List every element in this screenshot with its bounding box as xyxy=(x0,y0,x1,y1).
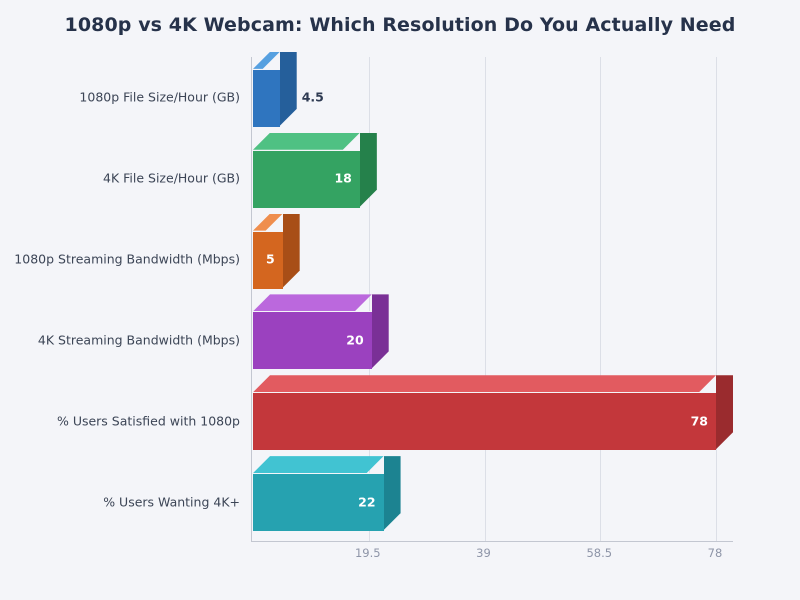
bar-6[interactable]: 22 xyxy=(253,473,384,530)
gridline xyxy=(485,57,486,541)
bar-top-face xyxy=(253,294,372,311)
x-tick-label: 19.5 xyxy=(355,546,381,560)
bar-value-label: 4.5 xyxy=(302,90,324,105)
x-tick-label: 39 xyxy=(476,546,491,560)
chart-container: 1080p vs 4K Webcam: Which Resolution Do … xyxy=(0,0,800,600)
bar-2[interactable]: 18 xyxy=(253,150,360,207)
gridline xyxy=(600,57,601,541)
bar-value-label: 20 xyxy=(346,332,363,347)
bar-front-face xyxy=(253,69,280,127)
chart-title: 1080p vs 4K Webcam: Which Resolution Do … xyxy=(0,14,800,36)
bar-side-face xyxy=(372,294,389,368)
y-axis-category-label: 4K File Size/Hour (GB) xyxy=(11,171,251,186)
plot-area: 4.5185207822 xyxy=(251,57,733,542)
x-tick-label: 58.5 xyxy=(586,546,612,560)
x-tick-label: 78 xyxy=(708,546,723,560)
bar-value-label: 18 xyxy=(334,171,351,186)
bar-top-face xyxy=(253,214,283,231)
bar-5[interactable]: 78 xyxy=(253,392,716,449)
y-axis-category-label: % Users Satisfied with 1080p xyxy=(11,413,251,428)
y-axis-labels: 1080p File Size/Hour (GB)4K File Size/Ho… xyxy=(0,57,251,542)
bar-top-face xyxy=(253,375,716,392)
bar-top-face xyxy=(253,52,280,69)
bar-1[interactable]: 4.5 xyxy=(253,69,280,126)
bar-value-label: 22 xyxy=(358,494,375,509)
y-axis-category-label: 1080p File Size/Hour (GB) xyxy=(11,90,251,105)
bar-side-face xyxy=(384,456,401,530)
y-axis-category-label: % Users Wanting 4K+ xyxy=(11,494,251,509)
bar-4[interactable]: 20 xyxy=(253,311,372,368)
bar-top-face xyxy=(253,133,360,150)
y-axis-category-label: 1080p Streaming Bandwidth (Mbps) xyxy=(11,252,251,267)
bar-value-label: 78 xyxy=(691,413,708,428)
gridline xyxy=(716,57,717,541)
bar-side-face xyxy=(360,133,377,207)
bar-side-face xyxy=(280,52,297,126)
bar-side-face xyxy=(716,375,733,449)
bar-front-face xyxy=(253,392,716,450)
y-axis-category-label: 4K Streaming Bandwidth (Mbps) xyxy=(11,332,251,347)
bar-side-face xyxy=(283,214,300,288)
bar-top-face xyxy=(253,456,384,473)
bar-value-label: 5 xyxy=(266,252,275,267)
x-axis-tick-labels: 19.53958.578 xyxy=(251,546,733,568)
bar-3[interactable]: 5 xyxy=(253,231,283,288)
